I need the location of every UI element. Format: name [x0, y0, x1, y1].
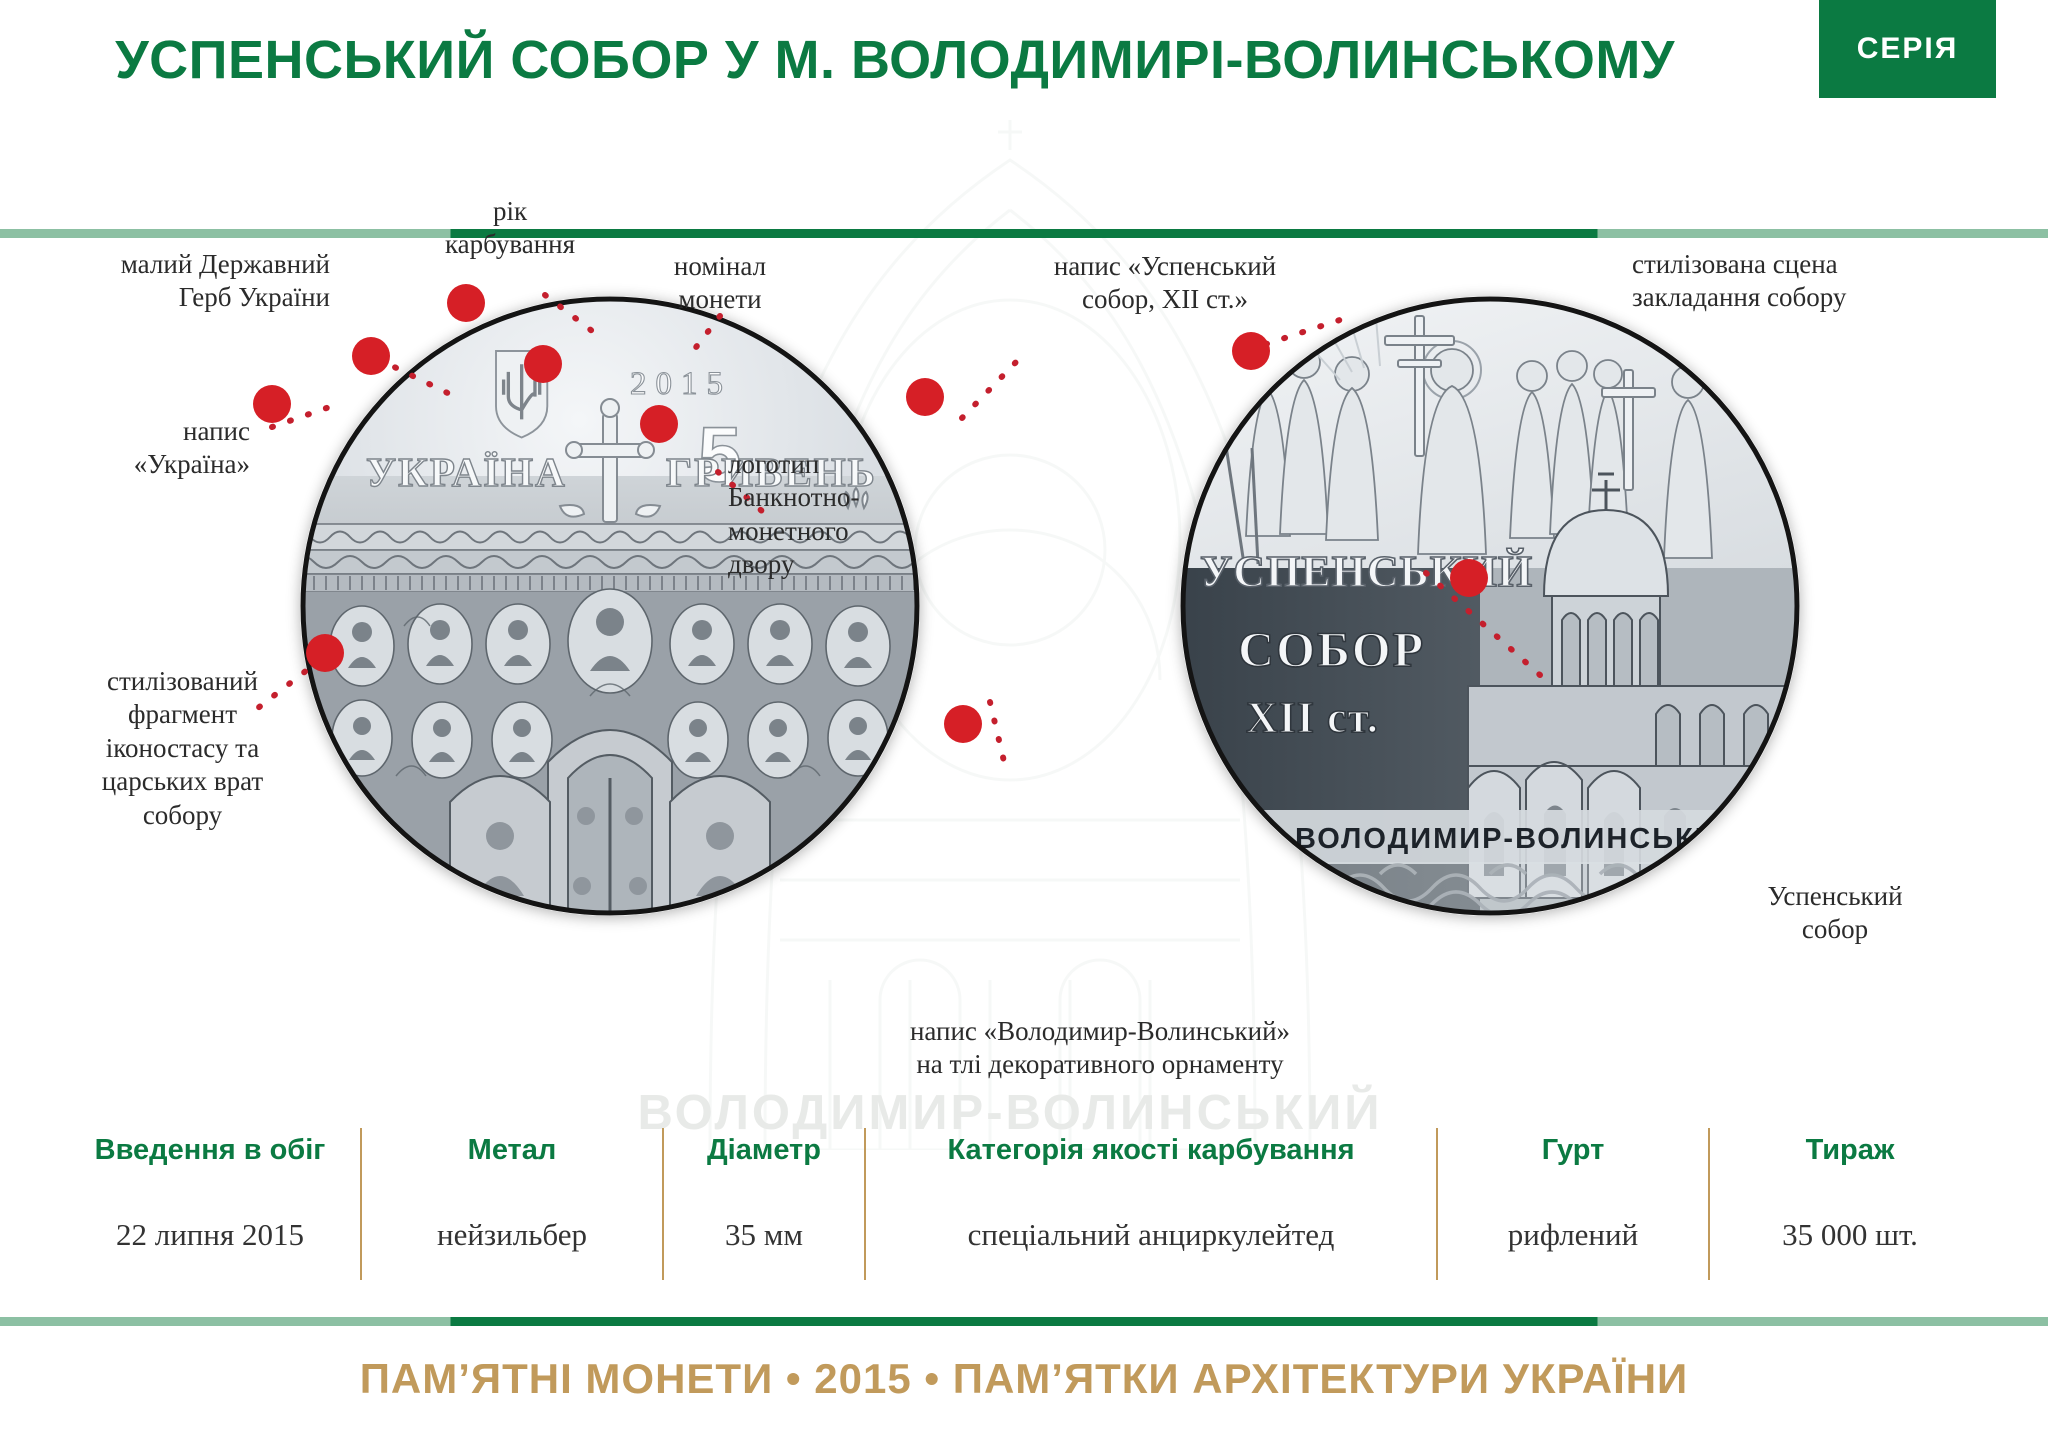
- callout-inscription-cathedral: напис «Успенський собор, XII ст.»: [1000, 250, 1330, 317]
- spec-column-issue-date: Введення в обіг 22 липня 2015: [60, 1128, 360, 1280]
- spec-value: 35 мм: [725, 1217, 803, 1253]
- spec-column-diameter: Діаметр 35 мм: [664, 1128, 864, 1280]
- svg-text:СОБОР: СОБОР: [1238, 621, 1425, 677]
- callout-founding-scene: стилізована сцена закладання собору: [1632, 248, 2012, 315]
- spec-header: Категорія якості карбування: [947, 1134, 1354, 1167]
- callout-mint-year: рік карбування: [410, 195, 610, 262]
- marker-inscription-cathedral: [906, 378, 944, 416]
- callout-denomination: номінал монети: [620, 250, 820, 317]
- series-badge: СЕРІЯ: [1819, 0, 1996, 98]
- callout-coat-of-arms: малий Державний Герб України: [70, 248, 330, 315]
- spec-header: Тираж: [1806, 1134, 1895, 1167]
- divider-rule-bottom: [0, 1317, 2048, 1326]
- marker-inscription-ukraine: [253, 385, 291, 423]
- spec-column-metal: Метал нейзильбер: [362, 1128, 662, 1280]
- spec-value: нейзильбер: [437, 1217, 587, 1253]
- spec-value: спеціальний анциркулейтед: [968, 1217, 1335, 1253]
- spec-header: Гурт: [1542, 1134, 1605, 1167]
- callout-city-inscription: напис «Володимир-Волинський» на тлі деко…: [850, 1015, 1350, 1082]
- spec-column-edge: Гурт рифлений: [1438, 1128, 1708, 1280]
- specifications-table: Введення в обіг 22 липня 2015 Метал нейз…: [60, 1128, 1990, 1280]
- spec-column-mintage: Тираж 35 000 шт.: [1710, 1128, 1990, 1280]
- marker-city-inscription: [944, 705, 982, 743]
- spec-header: Введення в обіг: [95, 1134, 326, 1167]
- spec-value: 22 липня 2015: [116, 1217, 304, 1253]
- callout-mint-logo: логотип Банкнотно- монетного двору: [728, 448, 958, 582]
- spec-header: Метал: [468, 1134, 557, 1167]
- marker-coat-of-arms: [352, 337, 390, 375]
- footer-banner: ПАМ’ЯТНІ МОНЕТИ • 2015 • ПАМ’ЯТКИ АРХІТЕ…: [0, 1355, 2048, 1403]
- spec-header: Діаметр: [707, 1134, 821, 1167]
- page-title: УСПЕНСЬКИЙ СОБОР У М. ВОЛОДИМИРІ-ВОЛИНСЬ…: [0, 28, 1790, 94]
- spec-value: рифлений: [1508, 1217, 1638, 1253]
- coin-reverse-image: УСПЕНСЬКИЙ СОБОР XII ст. ВОЛОДИМИР-ВОЛИН…: [1180, 296, 1800, 916]
- svg-text:XII ст.: XII ст.: [1246, 693, 1379, 742]
- marker-mint-year: [447, 284, 485, 322]
- divider-rule-top: [0, 229, 2048, 238]
- svg-text:УКРАЇНА: УКРАЇНА: [366, 449, 567, 495]
- spec-value: 35 000 шт.: [1782, 1217, 1918, 1253]
- callout-iconostasis: стилізований фрагмент іконостасу та царс…: [55, 665, 310, 832]
- spec-column-quality: Категорія якості карбування спеціальний …: [866, 1128, 1436, 1280]
- svg-text:УСПЕНСЬКИЙ: УСПЕНСЬКИЙ: [1200, 547, 1533, 596]
- callout-inscription-ukraine: напис «Україна»: [50, 415, 250, 482]
- svg-text:2015: 2015: [630, 366, 732, 402]
- coin-obverse-image: 2015 5 УКРАЇНА ГРИВЕНЬ: [300, 296, 920, 916]
- marker-founding-scene: [1232, 332, 1270, 370]
- callout-cathedral: Успенський собор: [1700, 880, 1970, 947]
